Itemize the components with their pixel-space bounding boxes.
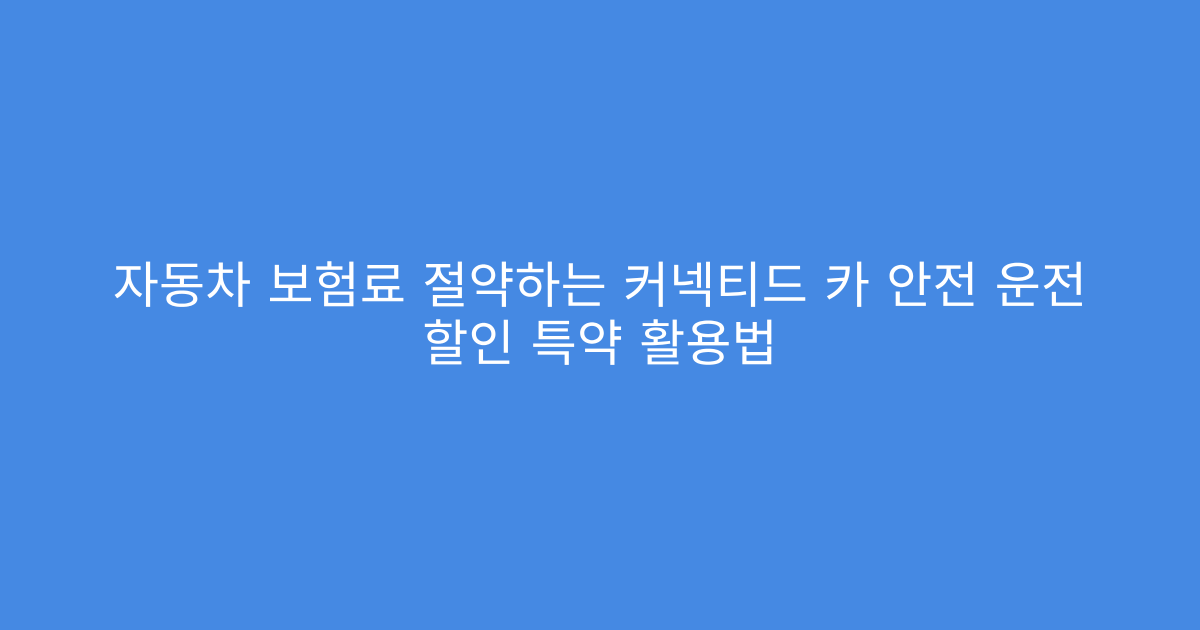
og-image-card: 자동차 보험료 절약하는 커넥티드 카 안전 운전 할인 특약 활용법 bbox=[0, 0, 1200, 630]
title-block: 자동차 보험료 절약하는 커넥티드 카 안전 운전 할인 특약 활용법 bbox=[85, 257, 1115, 374]
page-title: 자동차 보험료 절약하는 커넥티드 카 안전 운전 할인 특약 활용법 bbox=[101, 257, 1099, 374]
